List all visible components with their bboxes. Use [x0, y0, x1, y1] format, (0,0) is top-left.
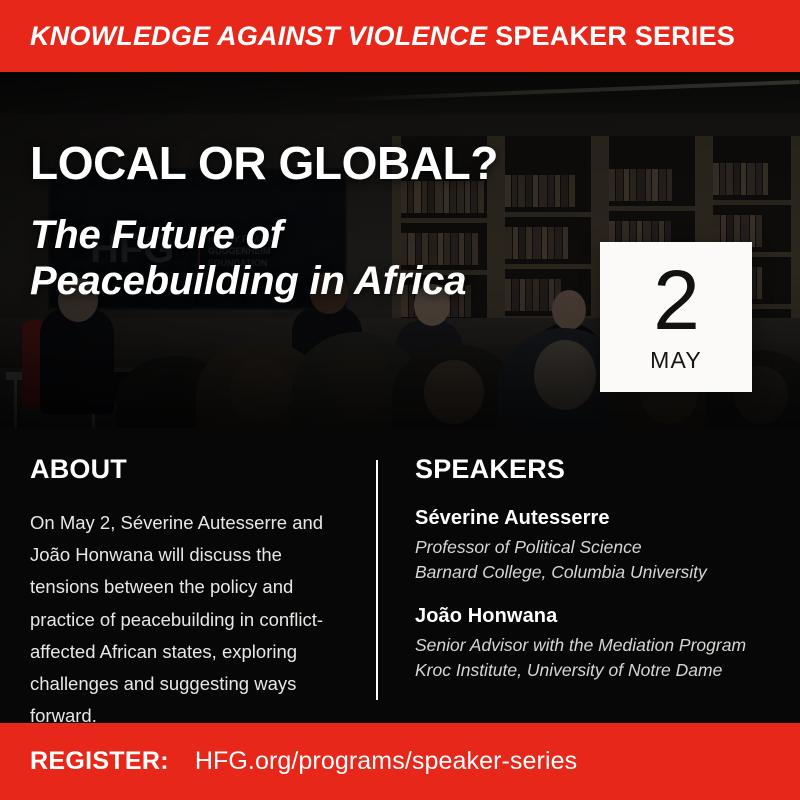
speaker-affiliation: Professor of Political Science Barnard C… — [415, 535, 780, 585]
subtitle-line-1: The Future of — [30, 213, 283, 257]
speaker-entry: João Honwana Senior Advisor with the Med… — [415, 605, 780, 683]
event-poster: KNOWLEDGE AGAINST VIOLENCE SPEAKER SERIE… — [0, 0, 800, 800]
speaker-affiliation-line-2: Kroc Institute, University of Notre Dame — [415, 660, 722, 680]
subtitle-line-2: Peacebuilding in Africa — [30, 259, 466, 303]
speaker-name: João Honwana — [415, 605, 780, 628]
about-column: ABOUT On May 2, Séverine Autesserre and … — [30, 454, 350, 732]
series-title-bold: SPEAKER SERIES — [495, 21, 735, 51]
about-heading: ABOUT — [30, 454, 350, 485]
register-label: REGISTER: — [30, 747, 169, 776]
series-banner: KNOWLEDGE AGAINST VIOLENCE SPEAKER SERIE… — [0, 0, 800, 72]
date-badge: 2 MAY — [600, 242, 752, 392]
hero-section: HFG HARRY FRANK GUGGENHEIM FOUNDATION — [0, 72, 800, 428]
register-bar: REGISTER: HFG.org/programs/speaker-serie… — [0, 723, 800, 800]
column-divider — [376, 460, 378, 700]
speaker-affiliation: Senior Advisor with the Mediation Progra… — [415, 633, 780, 683]
speakers-heading: SPEAKERS — [415, 454, 780, 485]
date-day: 2 — [653, 264, 699, 336]
speaker-affiliation-line-1: Senior Advisor with the Mediation Progra… — [415, 635, 746, 655]
about-body: On May 2, Séverine Autesserre and João H… — [30, 507, 350, 732]
speaker-entry: Séverine Autesserre Professor of Politic… — [415, 507, 780, 585]
speaker-affiliation-line-1: Professor of Political Science — [415, 537, 642, 557]
page-subtitle: The Future of Peacebuilding in Africa — [30, 212, 590, 305]
details-section: ABOUT On May 2, Séverine Autesserre and … — [0, 428, 800, 723]
speaker-name: Séverine Autesserre — [415, 507, 780, 530]
date-month: MAY — [650, 347, 702, 374]
register-url[interactable]: HFG.org/programs/speaker-series — [195, 747, 577, 776]
series-title-italic: KNOWLEDGE AGAINST VIOLENCE — [30, 21, 487, 51]
series-banner-text: KNOWLEDGE AGAINST VIOLENCE SPEAKER SERIE… — [30, 21, 735, 52]
hero-copy: LOCAL OR GLOBAL? The Future of Peacebuil… — [30, 140, 590, 305]
speaker-affiliation-line-2: Barnard College, Columbia University — [415, 562, 707, 582]
page-title: LOCAL OR GLOBAL? — [30, 140, 590, 186]
speakers-column: SPEAKERS Séverine Autesserre Professor o… — [415, 454, 780, 682]
